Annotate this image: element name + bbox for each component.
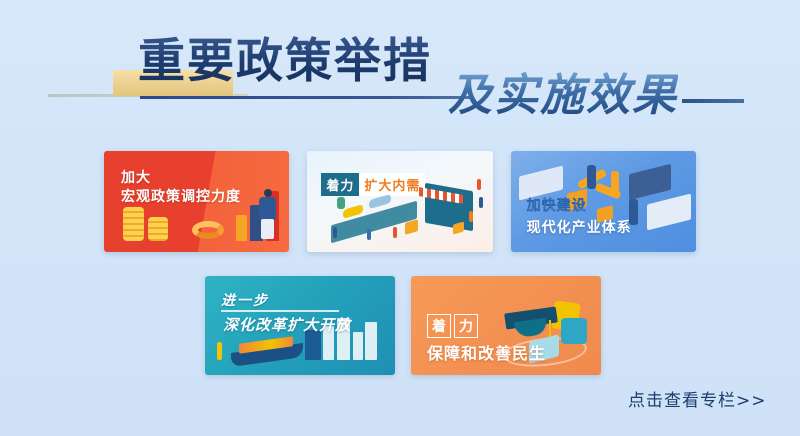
card-modern-industry[interactable]: 加快建设 现代化产业体系	[511, 151, 696, 252]
coin-stack-small-icon	[148, 217, 168, 241]
card-macro-policy-line2: 宏观政策调控力度	[121, 186, 241, 206]
card-reform-opening-underline	[221, 310, 339, 312]
card-livelihood-line2: 保障和改善民生	[427, 340, 546, 364]
card-macro-policy-line1: 加大	[121, 167, 151, 187]
robot-arm-icon	[611, 171, 619, 197]
card-row-bottom: 进一步 深化改革扩大开放 着 力 保障和改善民生	[205, 276, 601, 375]
bar-chart-bar-1	[236, 215, 247, 241]
person-figure-icon	[393, 227, 397, 238]
page-subtitle: 及实施效果	[448, 72, 678, 120]
card-livelihood-tag-char1: 着	[427, 314, 451, 338]
card-reform-opening-line2: 深化改革扩大开放	[223, 314, 351, 335]
medical-kit-icon	[561, 318, 587, 344]
machine-illustration	[629, 164, 671, 200]
card-livelihood[interactable]: 着 力 保障和改善民生	[411, 276, 601, 375]
card-domestic-demand-title: 着力 扩大内需	[321, 174, 425, 195]
parcel-box-small-icon	[453, 221, 464, 234]
card-reform-opening-line1: 进一步	[221, 290, 269, 310]
person-figure-icon	[469, 211, 473, 222]
card-row-top: 加大 宏观政策调控力度 着力 扩大内需	[104, 151, 696, 252]
card-modern-industry-line1: 加快建设	[527, 195, 587, 215]
person-figure-icon	[333, 227, 337, 238]
person-figure-icon	[587, 165, 596, 189]
card-modern-industry-line2: 现代化产业体系	[527, 217, 632, 237]
torus-icon	[192, 221, 224, 239]
card-domestic-demand-tag: 着力	[321, 173, 359, 196]
graduation-cap-base-icon	[514, 318, 548, 338]
parcel-box-icon	[405, 219, 418, 235]
person-figure-icon	[367, 229, 371, 240]
card-reform-opening[interactable]: 进一步 深化改革扩大开放	[205, 276, 395, 375]
coin-stack-icon	[123, 207, 144, 241]
title-underline	[140, 96, 470, 99]
person-figure-icon	[477, 179, 481, 190]
car-blue-icon	[369, 194, 391, 209]
view-column-link[interactable]: 点击查看专栏>>	[628, 386, 767, 411]
title-trailing-dash	[682, 99, 744, 103]
card-macro-policy[interactable]: 加大 宏观政策调控力度	[104, 151, 289, 252]
card-livelihood-tag: 着 力	[427, 314, 478, 338]
skyline-building	[365, 322, 377, 360]
skyline-building	[353, 332, 363, 360]
poster-canvas: 重要政策举措 及实施效果 加大 宏观政策调控力度 着力 扩大内需	[0, 0, 800, 436]
buoy-icon	[217, 342, 222, 360]
machine-illustration	[647, 194, 691, 231]
poster-header: 重要政策举措 及实施效果	[0, 0, 800, 140]
person-figure-icon	[479, 197, 483, 208]
card-livelihood-tag-char2: 力	[454, 314, 478, 338]
card-domestic-demand-line2: 扩大内需	[359, 173, 425, 196]
card-domestic-demand[interactable]: 着力 扩大内需	[307, 151, 492, 252]
page-title: 重要政策举措	[138, 36, 432, 88]
tree-icon	[337, 197, 345, 209]
